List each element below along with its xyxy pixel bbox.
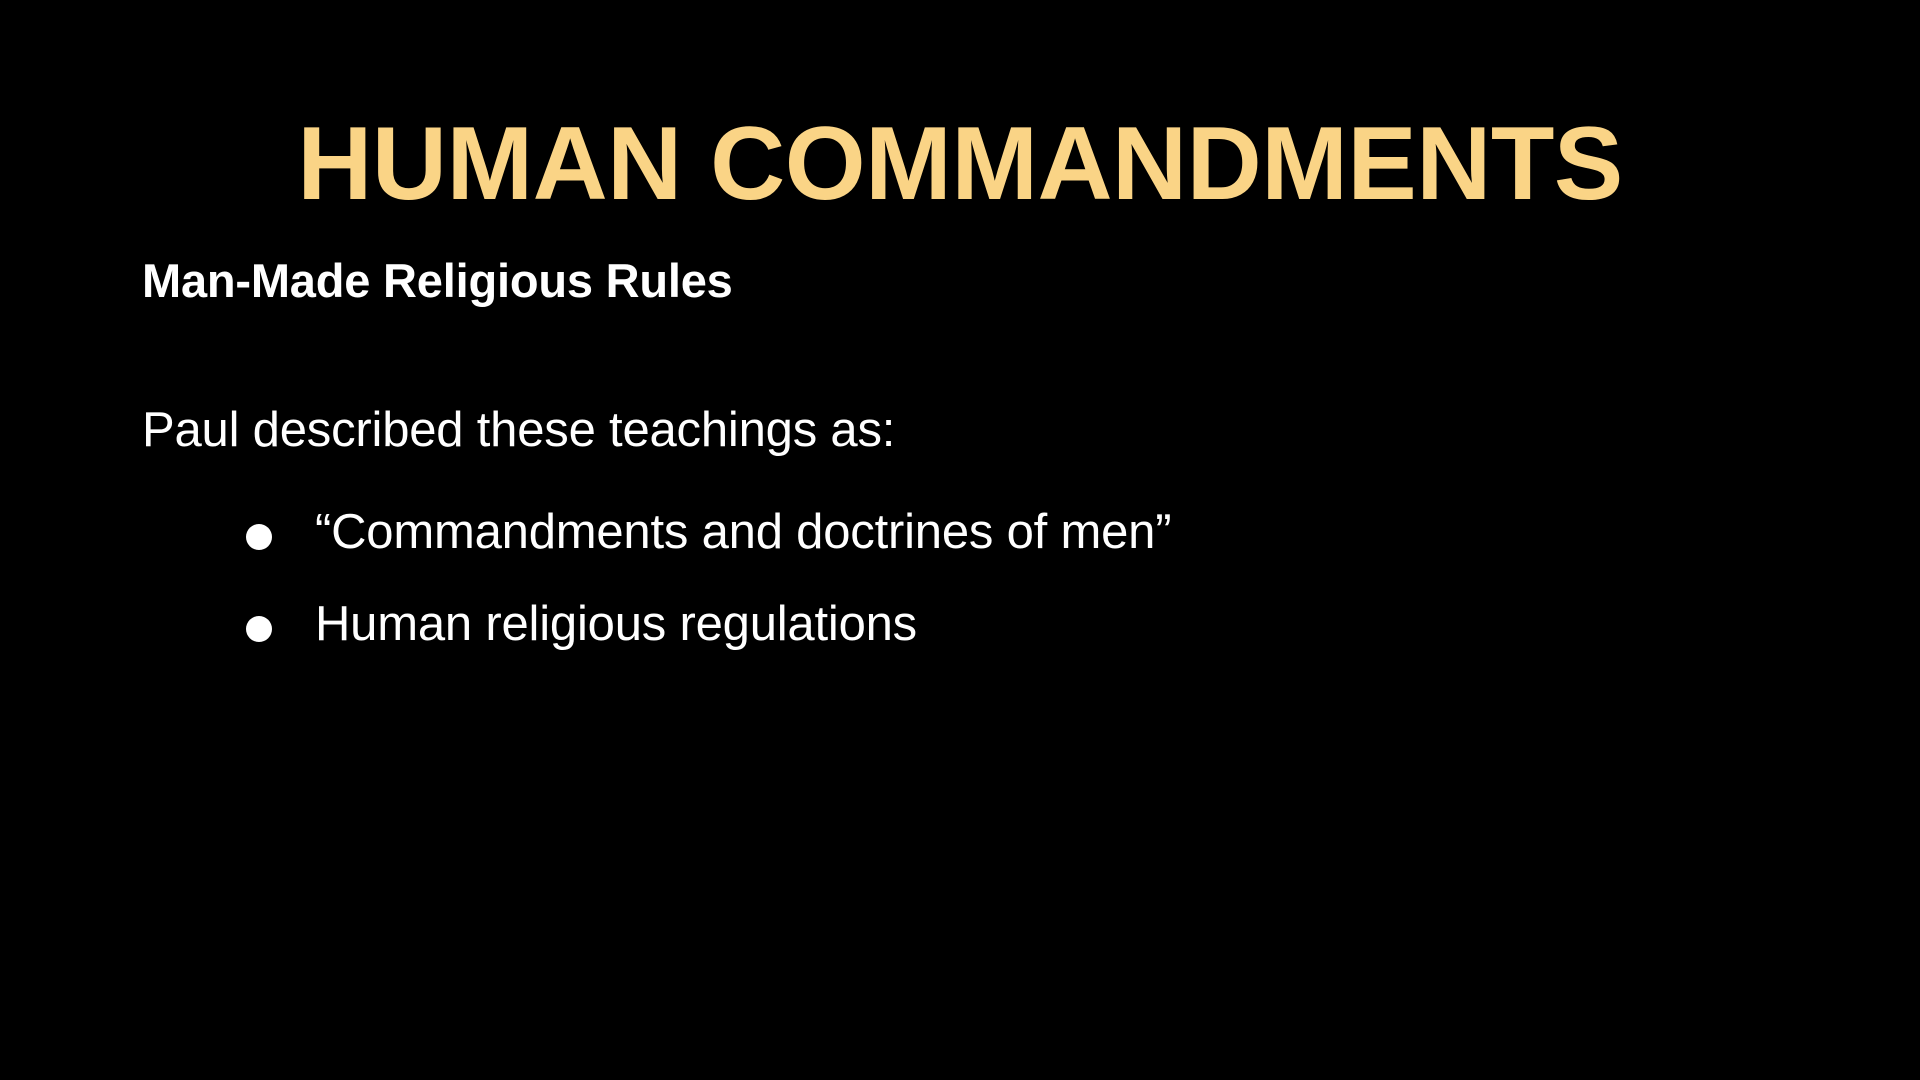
- bullet-list: “Commandments and doctrines of men” Huma…: [142, 503, 1840, 655]
- presentation-slide: HUMAN COMMANDMENTS Man-Made Religious Ru…: [0, 0, 1920, 1080]
- list-item-label: Human religious regulations: [315, 597, 917, 651]
- subheading: Man-Made Religious Rules: [142, 252, 1840, 309]
- list-item: Human religious regulations: [142, 595, 1840, 655]
- list-item-label: “Commandments and doctrines of men”: [315, 505, 1171, 559]
- lead-line: Paul described these teachings as:: [142, 401, 1840, 461]
- bullet-dot-icon: [246, 616, 272, 642]
- list-item: “Commandments and doctrines of men”: [142, 503, 1840, 563]
- bullet-dot-icon: [246, 524, 272, 550]
- page-title: HUMAN COMMANDMENTS: [0, 108, 1920, 220]
- slide-body: Man-Made Religious Rules Paul described …: [142, 252, 1840, 655]
